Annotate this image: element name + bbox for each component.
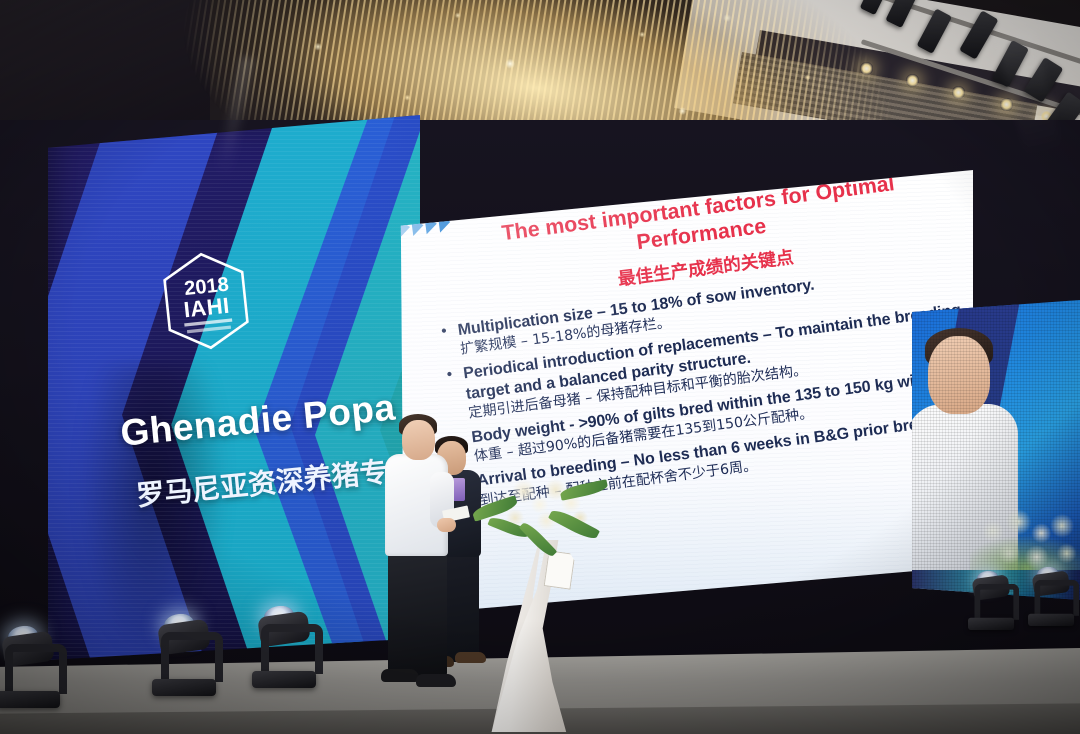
presentation-slide-screen: The most important factors for Optimal P… <box>398 170 973 615</box>
speaker-hand <box>437 518 456 532</box>
light-yoke <box>1034 580 1079 616</box>
interpreter-shoe <box>455 652 486 663</box>
light-base <box>252 671 316 688</box>
speaker-shoe <box>381 669 419 682</box>
speaker-head <box>402 420 435 460</box>
light-base <box>152 679 216 696</box>
light-base <box>1028 614 1074 626</box>
light-yoke <box>261 624 323 674</box>
light-yoke <box>161 632 223 682</box>
speaker-shoe <box>416 674 456 687</box>
led-pixel-grid-overlay <box>912 300 1080 600</box>
led-scanline-overlay <box>398 170 973 615</box>
live-video-feed-panel <box>912 300 1080 600</box>
flower-bouquet <box>486 472 598 546</box>
stage-light-icon <box>916 8 952 54</box>
moving-head-light <box>0 616 66 708</box>
light-base <box>968 618 1014 630</box>
bouquet-card-tag <box>544 550 576 589</box>
speaker-intro-banner: 2018 IAHI Ghenadie Popa 罗马尼亚资深养猪专家 <box>48 115 420 660</box>
light-yoke <box>5 644 67 694</box>
moving-head-light <box>1028 576 1065 626</box>
speaker-trousers <box>388 551 447 676</box>
stage-light-icon <box>992 40 1029 88</box>
conference-stage-photo: 2018 IAHI Ghenadie Popa 罗马尼亚资深养猪专家 The m… <box>0 0 1080 734</box>
light-base <box>0 691 60 708</box>
led-scanline-overlay <box>48 115 420 660</box>
moving-head-light <box>252 596 322 688</box>
leaf <box>548 507 600 543</box>
moving-head-light <box>968 580 1005 630</box>
stage-light-icon <box>860 0 891 15</box>
light-yoke <box>974 584 1019 620</box>
moving-head-light <box>152 604 222 696</box>
